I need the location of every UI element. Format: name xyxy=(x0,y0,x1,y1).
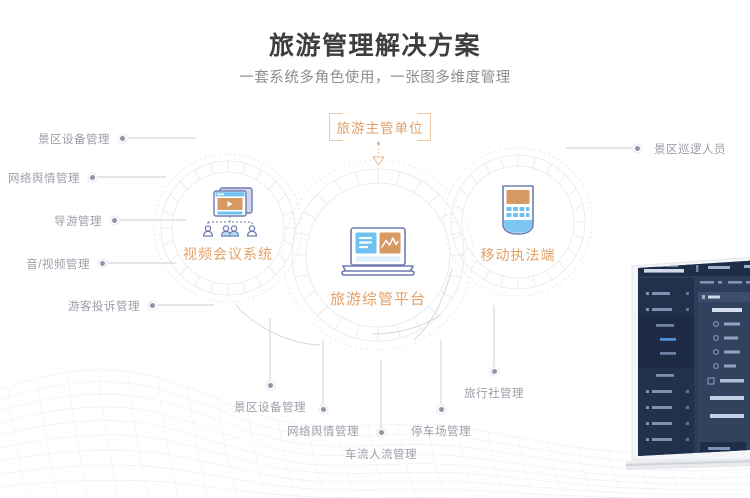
badge-drop-connector xyxy=(373,142,384,165)
spoke-dot-left-4[interactable] xyxy=(147,300,158,311)
spoke-dot-bottom-0[interactable] xyxy=(265,380,276,391)
spoke-label-left-1[interactable]: 网络舆情管理 xyxy=(0,170,80,186)
dashboard-laptop-mockup[interactable] xyxy=(626,250,750,498)
spoke-dot-left-0[interactable] xyxy=(117,133,128,144)
page-subtitle: 一套系统多角色使用，一张图多维度管理 xyxy=(0,66,750,87)
handheld-device-icon[interactable] xyxy=(497,184,539,240)
spoke-label-left-2[interactable]: 导游管理 xyxy=(0,213,102,229)
spoke-dot-bottom-4[interactable] xyxy=(489,366,500,377)
spoke-dot-bottom-2[interactable] xyxy=(376,427,387,438)
video-conference-icon[interactable] xyxy=(196,186,260,238)
spoke-dot-left-3[interactable] xyxy=(97,258,108,269)
badge-edge-left xyxy=(329,119,330,135)
node-label-video-conference: 视频会议系统 xyxy=(168,244,288,264)
page-title: 旅游管理解决方案 xyxy=(0,26,750,62)
node-label-mobile-enforcement: 移动执法端 xyxy=(463,245,573,265)
solution-diagram-canvas: 旅游管理解决方案 一套系统多角色使用，一张图多维度管理 旅游主管单位 xyxy=(0,0,750,498)
spoke-label-bottom-3[interactable]: 停车场管理 xyxy=(406,423,476,439)
badge-label: 旅游主管单位 xyxy=(337,117,424,137)
node-label-platform: 旅游综管平台 xyxy=(318,288,438,309)
spoke-label-bottom-2[interactable]: 车流人流管理 xyxy=(339,446,423,462)
spoke-label-left-3[interactable]: 音/视频管理 xyxy=(0,256,90,272)
spoke-label-right-0[interactable]: 景区巡逻人员 xyxy=(654,141,750,157)
laptop-platform-icon[interactable] xyxy=(337,226,419,282)
badge-authority[interactable]: 旅游主管单位 xyxy=(330,114,430,140)
spoke-dot-left-1[interactable] xyxy=(87,172,98,183)
spoke-label-bottom-4[interactable]: 旅行社管理 xyxy=(459,385,529,401)
spoke-label-left-0[interactable]: 景区设备管理 xyxy=(0,131,110,147)
spoke-dot-bottom-3[interactable] xyxy=(436,404,447,415)
spoke-label-left-4[interactable]: 游客投诉管理 xyxy=(20,298,140,314)
spoke-dot-bottom-1[interactable] xyxy=(318,404,329,415)
badge-edge-right xyxy=(430,119,431,135)
spoke-dot-right-0[interactable] xyxy=(632,143,643,154)
spoke-label-bottom-0[interactable]: 景区设备管理 xyxy=(228,399,312,415)
spoke-label-bottom-1[interactable]: 网络舆情管理 xyxy=(281,423,365,439)
spoke-dot-left-2[interactable] xyxy=(109,215,120,226)
